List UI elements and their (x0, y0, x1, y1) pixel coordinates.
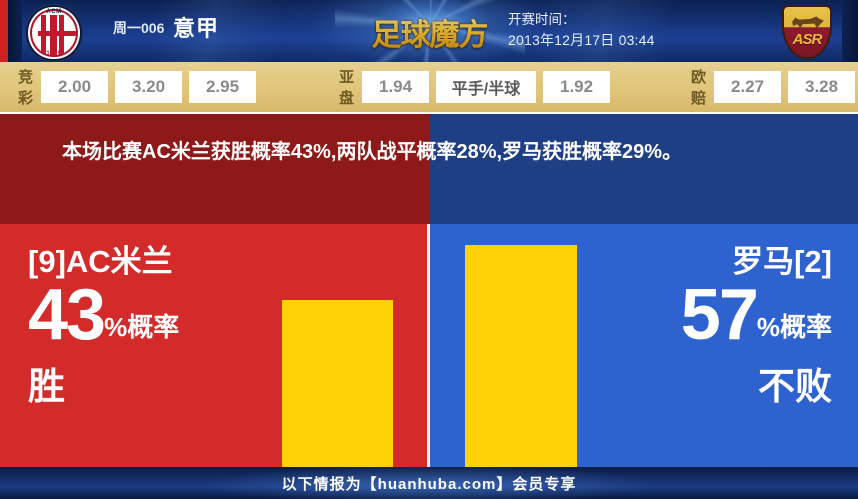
odds-cell[interactable]: 1.94 (362, 71, 429, 103)
odds-group-label: 亚盘 (339, 66, 355, 108)
odds-cell[interactable]: 3.20 (115, 71, 182, 103)
league-name: 意甲 (173, 11, 219, 43)
footer-text: 以下情报为【huanhuba.com】会员专享 (282, 473, 577, 494)
odds-group-jingcai: 竞彩 2.00 3.20 2.95 (18, 62, 263, 112)
odds-cell[interactable]: 3.28 (788, 71, 855, 103)
odds-cell[interactable]: 2.95 (189, 71, 256, 103)
header-bar: ACM 1899 周一006 意甲 足球魔方 开赛时间： 2013年12月17日… (0, 0, 858, 62)
probability-chart: [9]AC米兰 43 %概率 胜 罗马[2] 57 %概率 不败 (0, 224, 858, 467)
home-probability-value: 43 (28, 282, 104, 348)
odds-bar: 竞彩 2.00 3.20 2.95 亚盘 1.94 平手/半球 1.92 欧赔 … (0, 62, 858, 112)
odds-cell-handicap[interactable]: 平手/半球 (436, 71, 536, 103)
kickoff-time: 开赛时间： 2013年12月17日 03:44 (508, 10, 758, 50)
odds-group-label: 竞彩 (18, 66, 34, 108)
home-probability-bar (282, 300, 393, 467)
header-red-strip (0, 0, 8, 62)
odds-group-label: 欧赔 (691, 66, 707, 108)
header-left-shade (8, 0, 22, 62)
away-probability-bar (465, 245, 577, 467)
logo-text: 足球魔方 (352, 10, 507, 54)
ac-milan-crest-icon: ACM 1899 (26, 5, 82, 61)
site-logo[interactable]: 足球魔方 (352, 2, 507, 58)
away-probability-suffix: %概率 (757, 310, 832, 348)
as-roma-crest-icon: ASR (782, 5, 832, 59)
home-probability-row: 43 %概率 (28, 282, 179, 348)
away-outcome-label: 不败 (681, 362, 832, 412)
away-probability-row: 57 %概率 (681, 282, 832, 348)
home-team-block: [9]AC米兰 43 %概率 胜 (28, 242, 179, 412)
summary-text: 本场比赛AC米兰获胜概率43%,两队战平概率28%,罗马获胜概率29%。 (0, 114, 858, 224)
odds-cell[interactable]: 1.92 (543, 71, 610, 103)
crest-monogram: ASR (784, 31, 830, 48)
header-right-shade (842, 0, 858, 62)
crest-top-text: ACM (28, 9, 80, 15)
panel-divider (427, 224, 430, 467)
wolf-icon (792, 15, 824, 28)
odds-cell[interactable]: 2.27 (714, 71, 781, 103)
crest-bottom-text: 1899 (28, 51, 80, 57)
kickoff-label: 开赛时间： (508, 10, 758, 30)
footer-bar: 以下情报为【huanhuba.com】会员专享 (0, 467, 858, 499)
kickoff-value: 2013年12月17日 03:44 (508, 30, 758, 50)
away-probability-value: 57 (681, 282, 757, 348)
summary-band: 本场比赛AC米兰获胜概率43%,两队战平概率28%,罗马获胜概率29%。 (0, 114, 858, 224)
match-probability-infographic: ACM 1899 周一006 意甲 足球魔方 开赛时间： 2013年12月17日… (0, 0, 858, 499)
odds-group-oupei: 欧赔 2.27 3.28 3.06 (691, 62, 858, 112)
odds-group-yapan: 亚盘 1.94 平手/半球 1.92 (339, 62, 617, 112)
crest-shield: ASR (782, 5, 832, 59)
away-team-block: 罗马[2] 57 %概率 不败 (681, 242, 832, 412)
home-outcome-label: 胜 (28, 362, 179, 412)
crest-cross-horizontal (38, 31, 76, 36)
crest-ring (30, 9, 78, 57)
match-number: 周一006 (113, 18, 164, 38)
odds-cell[interactable]: 2.00 (41, 71, 108, 103)
home-probability-suffix: %概率 (104, 310, 179, 348)
